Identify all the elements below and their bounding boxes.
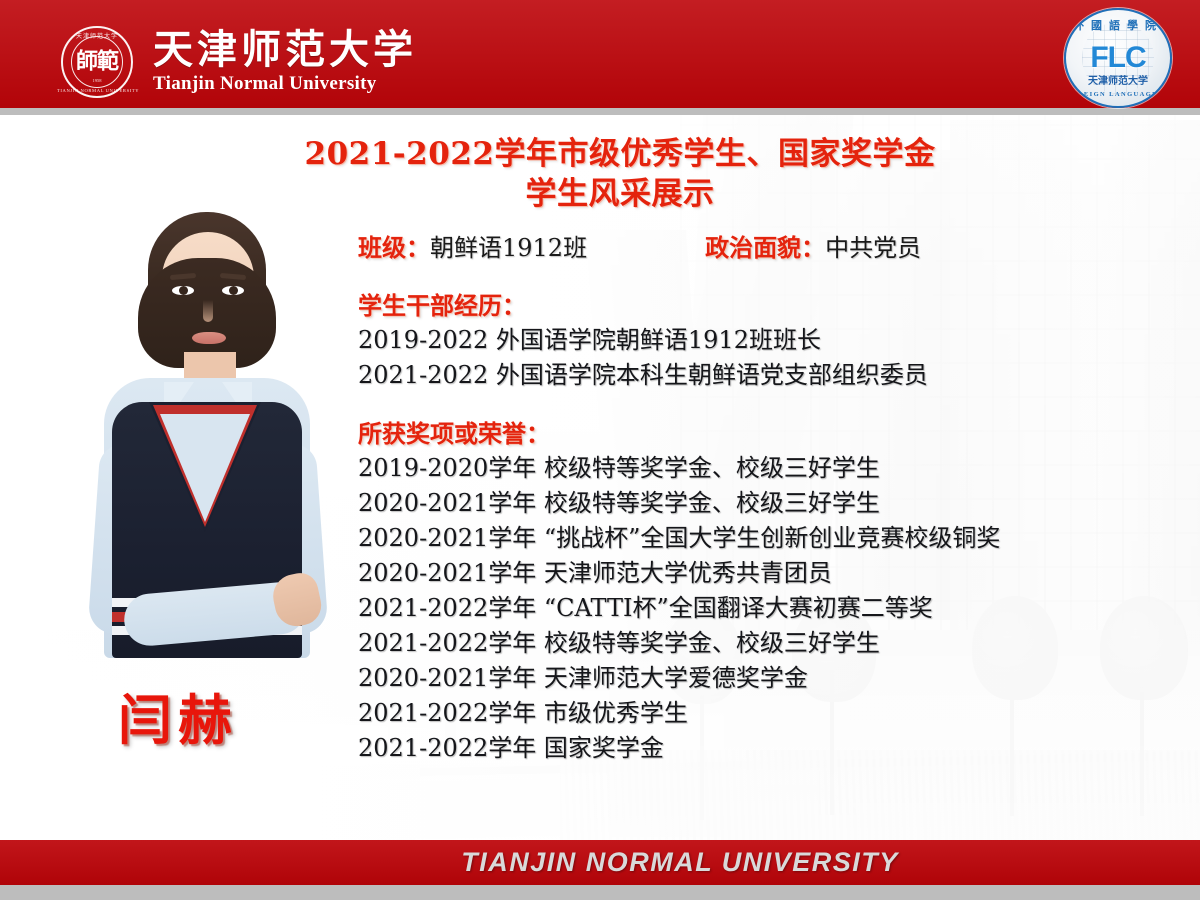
- award-line: 2020-2021学年 校级特等奖学金、校级三好学生: [358, 486, 1158, 521]
- header-divider: [0, 108, 1200, 115]
- portrait-pupil-left: [179, 286, 188, 295]
- student-info-panel: 班级： 朝鲜语1912班 政治面貌： 中共党员 学生干部经历： 2019-202…: [358, 228, 1158, 766]
- footer-strip: [0, 885, 1200, 900]
- award-line: 2020-2021学年 天津师范大学爱德奖学金: [358, 661, 1158, 696]
- wordmark-english: Tianjin Normal University: [153, 73, 417, 95]
- award-line: 2021-2022学年 市级优秀学生: [358, 696, 1158, 731]
- cadre-line: 2021-2022 外国语学院本科生朝鲜语党支部组织委员: [358, 358, 1158, 393]
- title-line-1: 2021-2022学年市级优秀学生、国家奖学金: [200, 134, 1040, 174]
- student-name: 闫赫: [118, 676, 238, 755]
- footer-text: TIANJIN NORMAL UNIVERSITY: [0, 847, 1200, 878]
- university-logo-group: 天津师范大学 師範 1958 TIANJIN NORMAL UNIVERSITY…: [57, 22, 417, 102]
- emblem-arc-top-text: 天津师范大学: [57, 31, 137, 40]
- portrait-eye-left: [172, 286, 194, 295]
- awards-heading: 所获奖项或荣誉：: [358, 417, 1158, 451]
- flc-university-name: 天津师范大学: [1066, 72, 1170, 87]
- flc-disc: 外國語學院 FLC 天津师范大学 FOREIGN LANGUAGES COLLE…: [1064, 8, 1172, 108]
- award-line: 2021-2022学年 国家奖学金: [358, 731, 1158, 766]
- portrait-nose: [203, 300, 213, 322]
- portrait-mouth: [192, 332, 226, 344]
- student-portrait: [60, 206, 350, 672]
- cadre-experience-section: 学生干部经历： 2019-2022 外国语学院朝鲜语1912班班长 2021-2…: [358, 289, 1158, 393]
- flc-acronym: FLC: [1066, 43, 1170, 73]
- slide-root: 天津师范大学 師範 1958 TIANJIN NORMAL UNIVERSITY…: [0, 0, 1200, 900]
- flc-logo-icon: 外國語學院 FLC 天津师范大学 FOREIGN LANGUAGES COLLE…: [1056, 4, 1176, 108]
- award-line: 2019-2020学年 校级特等奖学金、校级三好学生: [358, 451, 1158, 486]
- portrait-eye-right: [222, 286, 244, 295]
- political-status-value: 中共党员: [825, 228, 921, 263]
- portrait-vest-vneck-open: [160, 414, 250, 522]
- award-line: 2020-2021学年 “挑战杯”全国大学生创新创业竞赛校级铜奖: [358, 521, 1158, 556]
- class-value: 朝鲜语1912班: [430, 228, 587, 263]
- class-label: 班级：: [358, 228, 430, 263]
- page-title: 2021-2022学年市级优秀学生、国家奖学金 学生风采展示: [200, 134, 1040, 214]
- emblem-arc-bottom-text: TIANJIN NORMAL UNIVERSITY: [57, 88, 137, 93]
- emblem-seal-text: 師範: [76, 51, 118, 73]
- awards-section: 所获奖项或荣誉： 2019-2020学年 校级特等奖学金、校级三好学生 2020…: [358, 417, 1158, 766]
- emblem-year: 1958: [57, 78, 137, 83]
- wordmark-chinese: 天津师范大学: [153, 29, 417, 71]
- university-wordmark: 天津师范大学 Tianjin Normal University: [153, 29, 417, 95]
- flc-arc-chinese: 外國語學院: [1066, 17, 1170, 33]
- portrait-pupil-right: [229, 286, 238, 295]
- university-emblem-icon: 天津师范大学 師範 1958 TIANJIN NORMAL UNIVERSITY: [57, 22, 137, 102]
- award-line: 2021-2022学年 “CATTI杯”全国翻译大赛初赛二等奖: [358, 591, 1158, 626]
- cadre-heading: 学生干部经历：: [358, 289, 1158, 323]
- class-and-political-row: 班级： 朝鲜语1912班 政治面貌： 中共党员: [358, 228, 1158, 263]
- flc-arc-english: FOREIGN LANGUAGES COLLEGE: [1066, 91, 1170, 98]
- political-status-label: 政治面貌：: [705, 228, 825, 263]
- portrait-figure: [60, 206, 350, 672]
- award-line: 2021-2022学年 校级特等奖学金、校级三好学生: [358, 626, 1158, 661]
- award-line: 2020-2021学年 天津师范大学优秀共青团员: [358, 556, 1158, 591]
- footer-bar: TIANJIN NORMAL UNIVERSITY: [0, 840, 1200, 885]
- cadre-line: 2019-2022 外国语学院朝鲜语1912班班长: [358, 323, 1158, 358]
